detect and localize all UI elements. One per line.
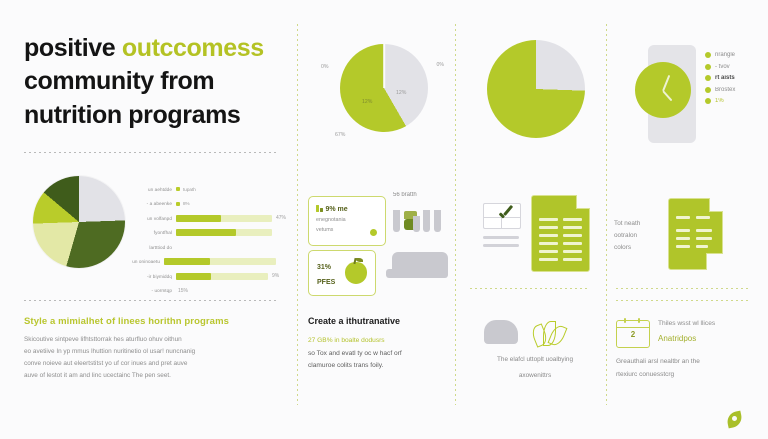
column4-divider — [616, 288, 748, 289]
doc-line — [676, 229, 690, 232]
legend-value: tupath — [183, 187, 196, 192]
column4-line: Greauthali arsl nealtbr an the — [616, 358, 700, 365]
bar-row-empty: - uormtqp 15% — [130, 285, 290, 297]
column3-icons — [470, 318, 600, 350]
apple-card-text: 31% PFES — [317, 261, 335, 290]
bar-row: un volfanpd 47% — [130, 212, 290, 224]
stat-card-line1: 9% me — [326, 206, 348, 213]
title-line2: community from — [24, 65, 286, 98]
title-line1-accent: outccomess — [122, 34, 264, 62]
legend-item: Brostex — [705, 87, 767, 93]
column-divider-2 — [455, 24, 456, 405]
pie-chart-column2: 0% 0% 12% 12% 67% — [330, 36, 438, 144]
doc-line — [676, 237, 690, 240]
column-divider-3 — [606, 24, 607, 405]
placeholder-line — [483, 244, 519, 247]
plant-leaf-icon — [532, 320, 562, 346]
caption-line2: ootralon — [614, 232, 637, 239]
caption-line1: Tot neath — [614, 220, 640, 227]
bar-chart-left: un aehtdde tupath - a abeenke 8% un volf… — [130, 183, 290, 299]
card-accent-dot-icon — [370, 229, 377, 236]
title-line1-plain: positive — [24, 34, 122, 62]
calendar-number: 2 — [617, 330, 649, 339]
legend-dot-icon — [705, 64, 711, 70]
gray-blob-icon — [484, 320, 518, 344]
pie-label-bottom: 67% — [335, 132, 345, 138]
left-block-line: Skicoutive sintpeve lifhtsttorrak hes at… — [24, 334, 274, 346]
pie-label-mid-left: 12% — [362, 99, 372, 105]
bar-row: -ir biymiddq 9% — [130, 270, 290, 282]
left-block-heading: Style a mimialhet of linees horithn prog… — [24, 316, 274, 327]
column3-text-block: The elafcl uttoplt uoalbying axowenittrs — [470, 318, 600, 382]
bar-label: fyontfhal — [130, 230, 176, 235]
bar-row-empty: lartttiod do — [130, 241, 290, 253]
doc-line — [696, 216, 710, 219]
doc-line — [539, 234, 558, 237]
pie-gap — [383, 44, 385, 88]
clock-hand-hour — [662, 75, 670, 92]
document-caption: Tot neath ootralon colors — [614, 218, 666, 255]
legend-item-label: rt aists — [715, 75, 735, 81]
infographic-canvas: positive outccomess community from nutri… — [0, 0, 768, 439]
document-icon-green-1 — [531, 195, 590, 272]
bar-row: un oninoaetu — [130, 256, 290, 268]
bar-label: un volfanpd — [130, 216, 176, 221]
legend-value: 8% — [183, 201, 190, 206]
tube — [393, 210, 400, 232]
legend-item: 1% — [705, 98, 767, 104]
doc-line — [676, 216, 690, 219]
bar-track — [164, 258, 276, 265]
column2-line: clamuroe colits trans foily. — [308, 360, 448, 373]
pie-label-top-left: 0% — [321, 64, 329, 70]
apple-card-pct: 31% — [317, 264, 331, 271]
document-fold-corner-bottom — [706, 253, 723, 270]
pie-label-top-right: 0% — [437, 62, 445, 68]
bar-fill — [164, 258, 210, 265]
doc-line — [539, 242, 558, 245]
stat-card-line2: enegnotania — [316, 217, 346, 223]
pie-chart-column3 — [487, 40, 585, 138]
legend-label: - a abeenke — [130, 201, 176, 206]
bar-value: 9% — [272, 273, 286, 279]
bar-value: 47% — [276, 215, 290, 221]
placeholder-line — [483, 236, 519, 239]
bar-label: -ir biymiddq — [130, 274, 176, 279]
equipment-icon — [392, 252, 448, 278]
logo-leaf-hole — [732, 416, 737, 421]
doc-line — [696, 245, 708, 248]
doc-line — [563, 242, 582, 245]
legend-dot-icon — [705, 87, 711, 93]
doc-line — [696, 229, 712, 232]
mini-bar-icon — [316, 205, 319, 212]
legend-item-label: nrangle — [715, 52, 735, 58]
doc-line — [563, 250, 582, 253]
bar-fill — [176, 215, 221, 222]
column4-body: Greauthali arsl nealtbr an the rtexiurc … — [616, 356, 758, 381]
doc-line — [539, 258, 558, 261]
left-section-divider — [24, 300, 276, 301]
bar-label: - uormtqp — [130, 288, 176, 293]
legend-label: un aehtdde — [130, 187, 176, 192]
calendar-peg — [638, 318, 640, 323]
apple-icon — [345, 262, 367, 284]
stat-card-nutrition: 9% me enegnotania vetums — [308, 196, 386, 246]
left-block-line: conve noieve aut eleertstitst yo uf cor … — [24, 358, 274, 370]
tubes-label: 56 bratth — [393, 192, 417, 198]
column2-green-line: 27 GB% in boalte dodusrs — [308, 335, 448, 348]
column3-divider — [470, 288, 588, 289]
bar-label: un oninoaetu — [130, 259, 164, 264]
legend-dot-icon — [705, 98, 711, 104]
column4-heading: Thiles wsst wl llices Anatridpos — [658, 318, 764, 347]
calendar-peg — [624, 318, 626, 323]
column-divider-1 — [297, 24, 298, 405]
bar-label: lartttiod do — [130, 245, 176, 250]
doc-line — [539, 226, 558, 229]
checklist-form-icon — [483, 203, 521, 229]
column4-head-line1: Thiles wsst wl llices — [658, 320, 715, 327]
legend-item: nrangle — [705, 52, 767, 58]
bar-row: fyontfhal — [130, 227, 290, 239]
legend-item-label: Brostex — [715, 87, 735, 93]
calendar-icon: 2 — [616, 320, 650, 348]
left-block-line: auve of lestot it am and linc ucectainc … — [24, 370, 274, 382]
document-icon-green-2 — [668, 198, 723, 270]
document-fold-corner — [709, 198, 723, 212]
page-title: positive outccomess community from nutri… — [24, 32, 286, 132]
left-text-block: Style a mimialhet of linees horithn prog… — [24, 316, 274, 381]
doc-line — [563, 234, 582, 237]
legend-item-label: - tvov — [715, 64, 730, 70]
doc-line — [696, 237, 712, 240]
doc-line — [563, 218, 582, 221]
left-block-line: eo avetiive In yp mmus lhuttion nuritine… — [24, 346, 274, 358]
mini-bar-icon — [320, 208, 323, 212]
column2-heading: Create a ithutranative — [308, 316, 448, 326]
bar-value: 15% — [178, 288, 188, 294]
column4-divider-2 — [616, 300, 748, 301]
tube — [434, 210, 441, 232]
title-line3: nutrition programs — [24, 99, 286, 132]
stat-card-line3: vetums — [316, 227, 333, 233]
pie-chart-left — [33, 176, 125, 268]
pie-label-mid-right: 12% — [396, 90, 406, 96]
apple-card-label: PFES — [317, 279, 335, 286]
doc-line — [563, 258, 582, 261]
legend-item: rt aists — [705, 75, 767, 81]
doc-line — [676, 245, 690, 248]
legend-item-label: 1% — [715, 98, 724, 104]
clock-hand-minute — [662, 90, 672, 101]
column4-line: rtexiurc conuesstcrg — [616, 371, 674, 378]
doc-line — [539, 250, 558, 253]
pie-body — [340, 44, 428, 132]
leaf-logo-icon — [727, 412, 742, 427]
column4-head-line2: Anatridpos — [658, 334, 696, 343]
legend-column4: nrangle - tvov rt aists Brostex 1% — [705, 52, 767, 110]
legend-swatch-icon — [176, 202, 180, 206]
legend-row: - a abeenke 8% — [130, 198, 290, 210]
legend-dot-icon — [705, 52, 711, 58]
calendar-header — [617, 321, 649, 328]
legend-dot-icon — [705, 75, 711, 81]
test-tubes-icon — [393, 206, 449, 232]
bar-track — [176, 229, 272, 236]
stat-card-apple: 31% PFES — [308, 250, 376, 296]
document-fold-corner — [576, 195, 590, 209]
column2-text-block: Create a ithutranative 27 GB% in boalte … — [308, 316, 448, 373]
clock-icon — [635, 62, 691, 118]
column3-line: The elafcl uttoplt uoalbying — [470, 354, 600, 366]
column3-line: axowenittrs — [470, 370, 600, 382]
legend-item: - tvov — [705, 64, 767, 70]
title-underline-dots — [24, 152, 276, 153]
checkmark-icon — [496, 206, 513, 223]
bar-fill — [176, 229, 236, 236]
bar-track — [176, 273, 268, 280]
legend-swatch-icon — [176, 187, 180, 191]
doc-line — [539, 218, 558, 221]
tube — [413, 216, 420, 232]
doc-line — [563, 226, 582, 229]
legend-row: un aehtdde tupath — [130, 183, 290, 195]
caption-line3: colors — [614, 244, 631, 251]
column2-line: so Tox and evatl ty oc w hacf orf — [308, 348, 448, 361]
bar-track — [176, 215, 272, 222]
tube — [423, 210, 430, 232]
bar-fill — [176, 273, 211, 280]
